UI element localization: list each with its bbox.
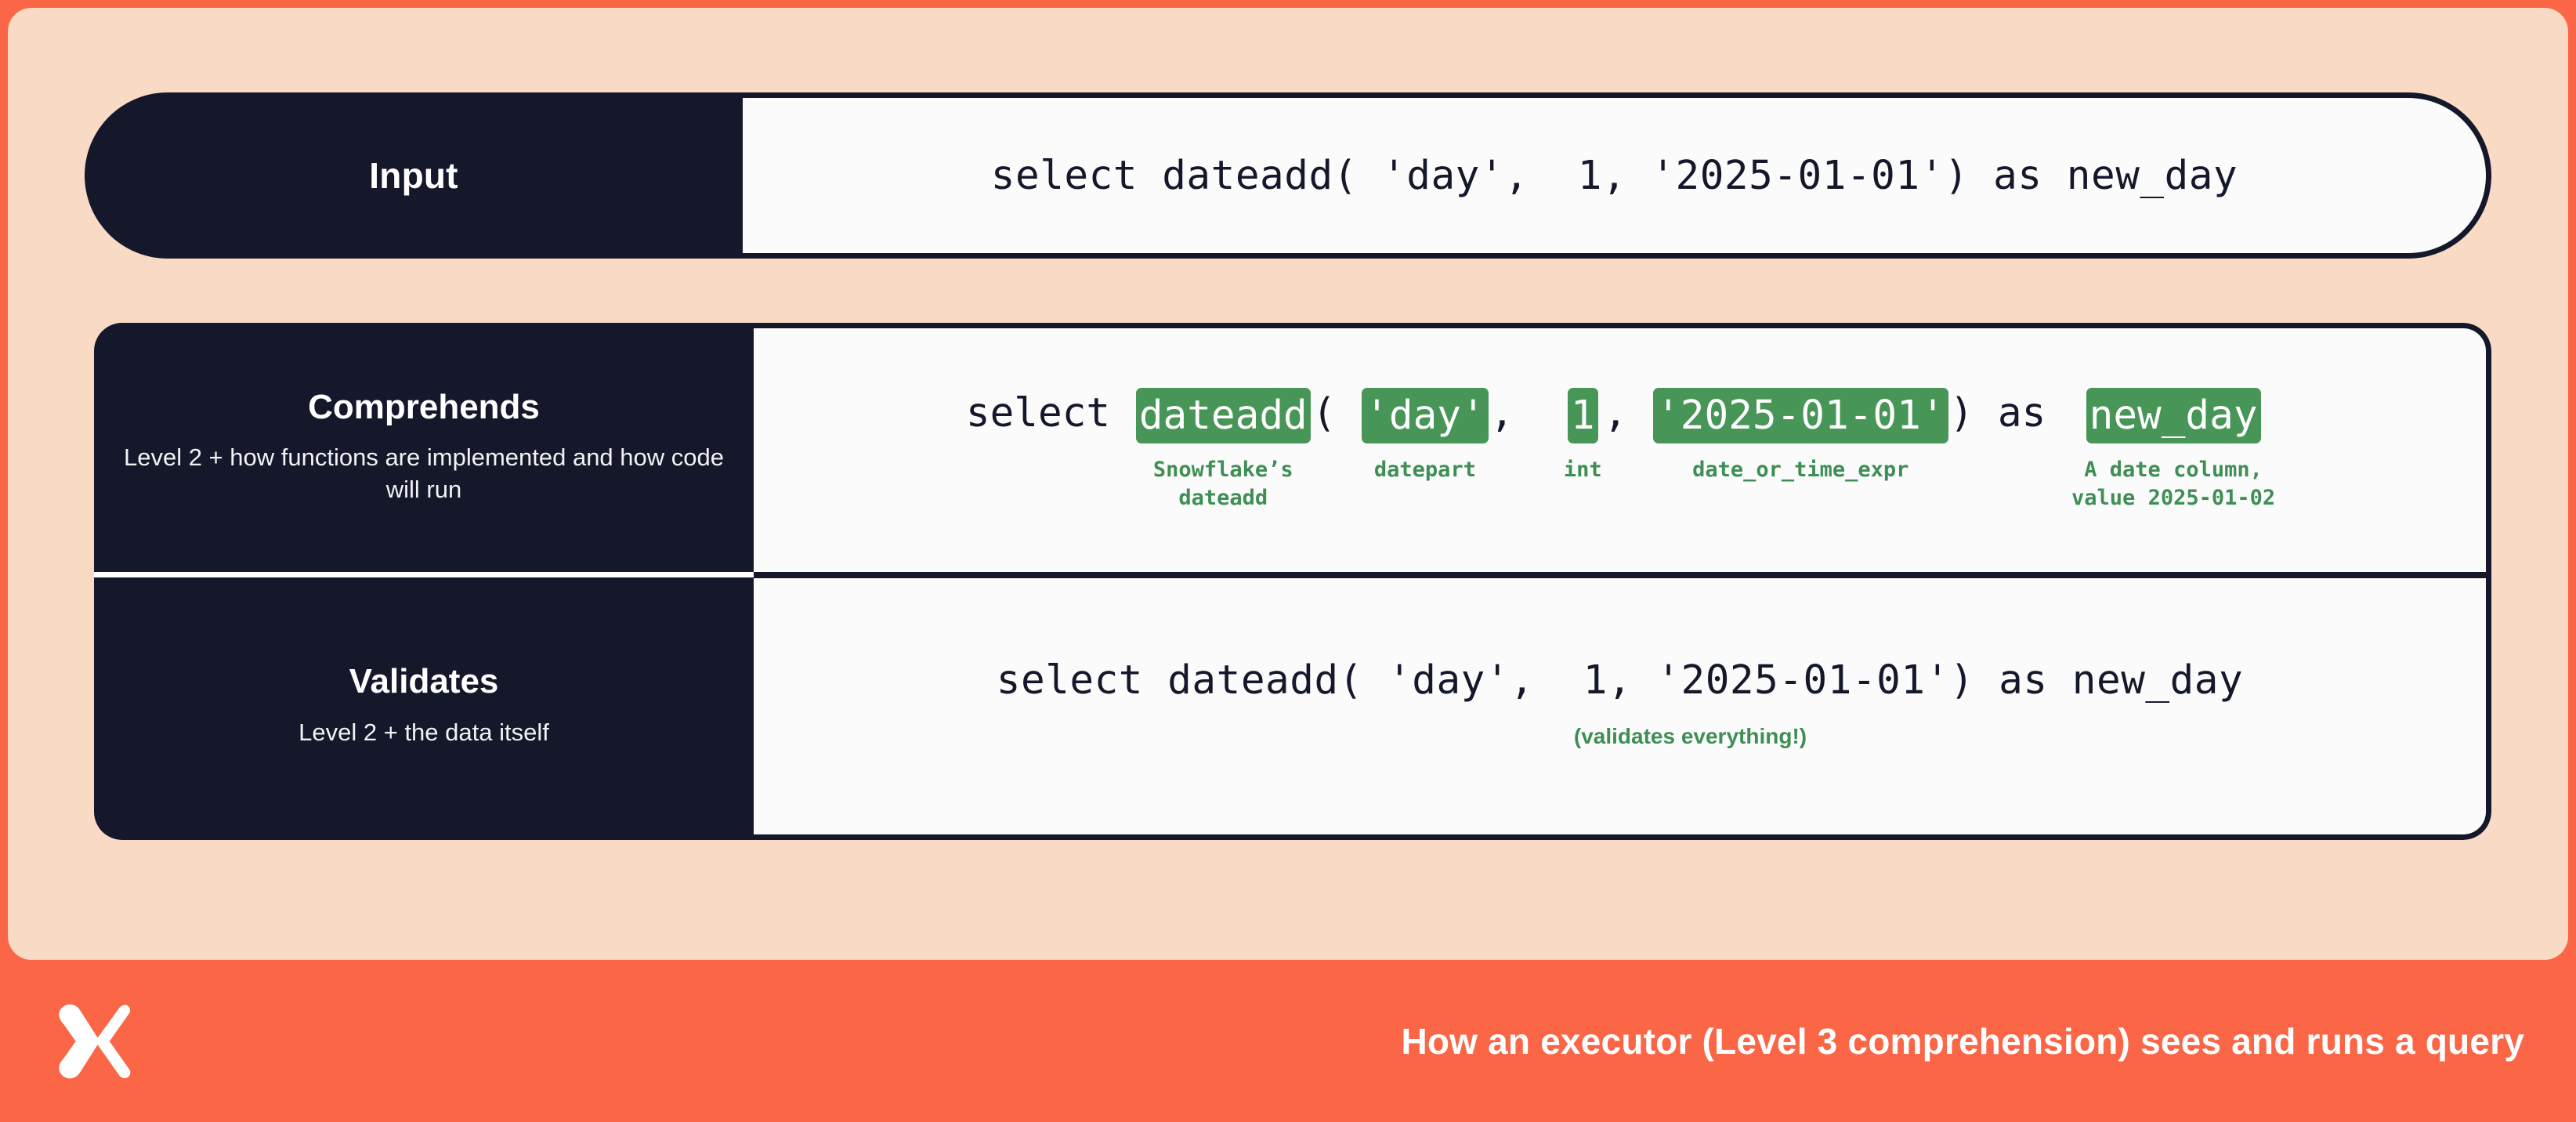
validates-row: Validates Level 2 + the data itself sele…	[94, 572, 2491, 840]
validates-title: Validates	[349, 663, 499, 700]
code-token-group: '2025-01-01'date_or_time_expr	[1653, 388, 1948, 484]
validates-subtitle: Level 2 + the data itself	[298, 717, 549, 749]
highlighted-token: 'day'	[1362, 388, 1489, 443]
validates-code-wrap: select dateadd( 'day', 1, '2025-01-01') …	[997, 657, 2243, 749]
code-token: ,	[1489, 388, 1564, 439]
footer-caption: How an executor (Level 3 comprehension) …	[133, 1020, 2524, 1062]
input-code-panel: select dateadd( 'day', 1, '2025-01-01') …	[743, 92, 2491, 259]
annotated-code-line: select dateaddSnowflake’s dateadd( 'day'…	[964, 388, 2275, 512]
code-token-group: (	[1311, 388, 1362, 480]
token-annotation: date_or_time_expr	[1692, 456, 1908, 484]
highlighted-token: 1	[1568, 388, 1598, 443]
comprehends-label-panel: Comprehends Level 2 + how functions are …	[94, 323, 754, 572]
highlighted-token: dateadd	[1136, 388, 1311, 443]
comprehends-title: Comprehends	[308, 389, 540, 426]
highlighted-token: new_day	[2086, 388, 2261, 443]
comprehends-code-panel: select dateaddSnowflake’s dateadd( 'day'…	[754, 323, 2491, 572]
code-token-group: select	[964, 388, 1136, 480]
code-token-group: new_dayA date column, value 2025-01-02	[2071, 388, 2275, 512]
token-annotation: Snowflake’s dateadd	[1153, 456, 1293, 512]
row-divider-left	[94, 572, 754, 577]
code-token-group: 1int	[1564, 388, 1602, 484]
validates-code-panel: select dateadd( 'day', 1, '2025-01-01') …	[754, 572, 2491, 840]
x-butterfly-logo-icon	[49, 999, 133, 1084]
token-annotation: A date column, value 2025-01-02	[2071, 456, 2275, 512]
code-token: ,	[1602, 388, 1653, 439]
validates-note: (validates everything!)	[1574, 724, 1807, 749]
slide-root: Input select dateadd( 'day', 1, '2025-01…	[0, 0, 2576, 1122]
token-annotation: datepart	[1374, 456, 1476, 484]
code-token-group: ,	[1602, 388, 1653, 480]
input-row: Input select dateadd( 'day', 1, '2025-01…	[85, 92, 2491, 259]
content-card: Input select dateadd( 'day', 1, '2025-01…	[8, 8, 2568, 960]
code-token-group: 'day'datepart	[1362, 388, 1489, 484]
code-token-group: dateaddSnowflake’s dateadd	[1136, 388, 1311, 512]
code-token-group: ) as	[1948, 388, 2072, 480]
code-token: select	[964, 388, 1136, 439]
token-annotation: int	[1564, 456, 1602, 484]
comprehends-subtitle: Level 2 + how functions are implemented …	[121, 442, 727, 506]
levels-card: Comprehends Level 2 + how functions are …	[94, 323, 2491, 840]
code-token: (	[1311, 388, 1362, 439]
row-divider-right	[754, 572, 2491, 578]
code-token-group: ,	[1489, 388, 1564, 480]
input-row-label: Input	[85, 92, 743, 259]
comprehends-row: Comprehends Level 2 + how functions are …	[94, 323, 2491, 572]
validates-label-panel: Validates Level 2 + the data itself	[94, 572, 754, 840]
footer-bar: How an executor (Level 3 comprehension) …	[0, 960, 2576, 1122]
highlighted-token: '2025-01-01'	[1653, 388, 1948, 443]
input-label-text: Input	[369, 154, 458, 197]
code-token: ) as	[1948, 388, 2072, 439]
input-code-text: select dateadd( 'day', 1, '2025-01-01') …	[991, 153, 2238, 199]
validates-code-text: select dateadd( 'day', 1, '2025-01-01') …	[997, 657, 2243, 704]
